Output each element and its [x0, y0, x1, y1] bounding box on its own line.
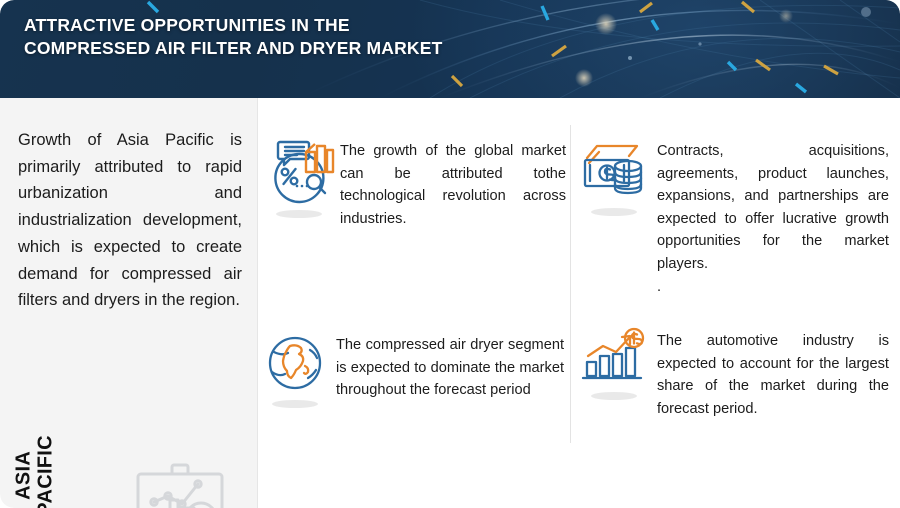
point-text: The compressed air dryer segment is expe… [336, 330, 564, 402]
banner-title: ATTRACTIVE OPPORTUNITIES IN THE COMPRESS… [24, 14, 584, 61]
presentation-board-chart-icon [128, 458, 232, 508]
region-label-line-2: PACIFIC [35, 420, 57, 508]
banner-title-line-1: ATTRACTIVE OPPORTUNITIES IN THE [24, 14, 584, 37]
globe-icon [262, 330, 328, 401]
point-text: Contracts, acquisitions, agreements, pro… [657, 143, 889, 272]
icon-shadow [591, 392, 637, 400]
point-contracts-acquisitions: Contracts, acquisitions, agreements, pro… [579, 138, 897, 294]
region-label-line-1: ASIA [13, 420, 35, 508]
point-dryer-segment: The compressed air dryer segment is expe… [262, 330, 566, 402]
header-banner: ATTRACTIVE OPPORTUNITIES IN THE COMPRESS… [0, 0, 900, 98]
growth-bar-chart-dollar-icon [579, 326, 649, 393]
icon-shadow [591, 208, 637, 216]
icon-shadow [276, 210, 322, 218]
point-text: The automotive industry is expected to a… [657, 326, 889, 420]
market-analytics-pie-chart-icon [262, 136, 336, 211]
left-panel-paragraph: Growth of Asia Pacific is primarily attr… [18, 127, 242, 314]
middle-column: The growth of the global market can be a… [258, 98, 570, 508]
point-text: The growth of the global market can be a… [340, 136, 566, 230]
left-region-panel: Growth of Asia Pacific is primarily attr… [0, 98, 258, 508]
trailing-mark: . [657, 276, 889, 294]
infographic-root: ATTRACTIVE OPPORTUNITIES IN THE COMPRESS… [0, 0, 900, 508]
region-label-asia-pacific: ASIA PACIFIC [13, 420, 58, 508]
money-cash-coins-icon [579, 138, 649, 209]
point-text-wrapper: Contracts, acquisitions, agreements, pro… [657, 138, 889, 294]
banner-title-line-2: COMPRESSED AIR FILTER AND DRYER MARKET [24, 37, 584, 60]
point-automotive-industry: The automotive industry is expected to a… [579, 326, 897, 420]
right-column: Contracts, acquisitions, agreements, pro… [571, 98, 900, 508]
icon-shadow [272, 400, 318, 408]
point-global-market-growth: The growth of the global market can be a… [262, 136, 566, 230]
